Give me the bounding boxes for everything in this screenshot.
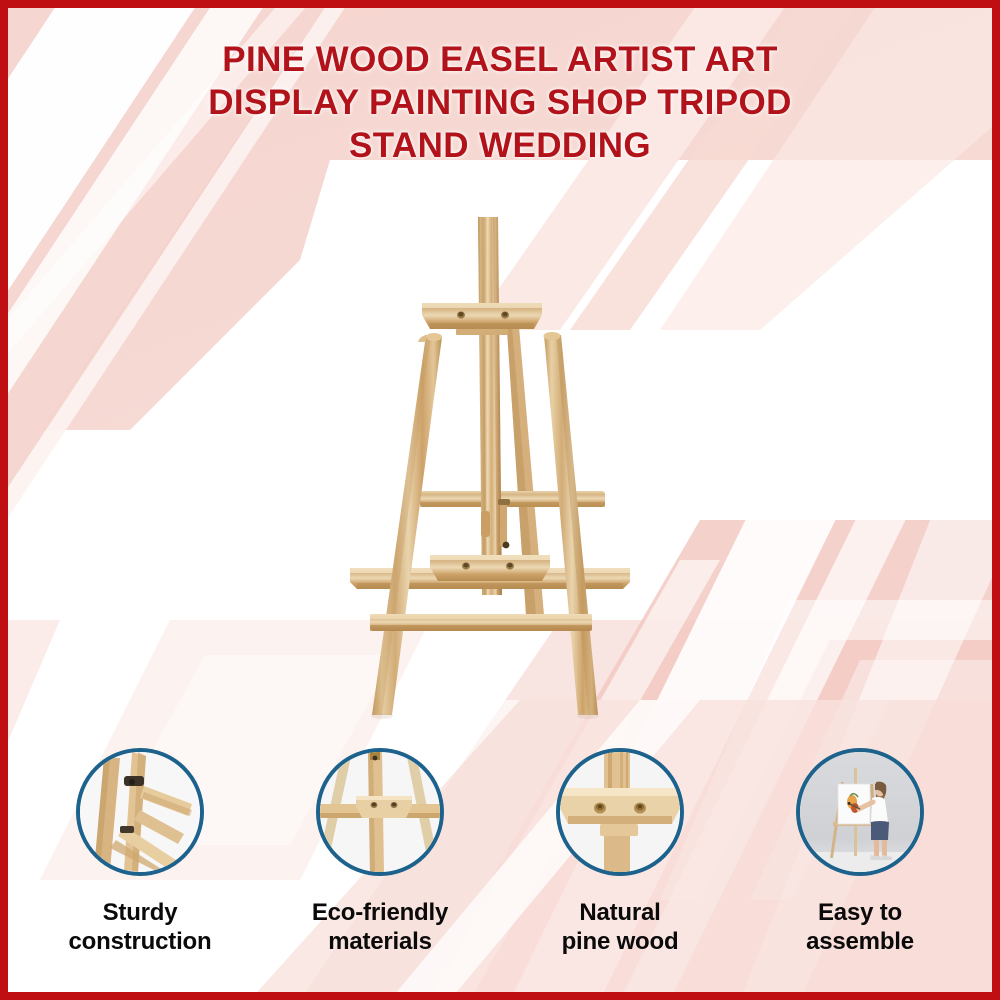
feature-item-eco-friendly-materials: Eco-friendly materials [260, 748, 500, 978]
feature-item-natural-pine-wood: Natural pine wood [500, 748, 740, 978]
feature-label-line1: Easy to [818, 899, 902, 926]
feature-circle-1 [76, 748, 204, 876]
feature-label-line2: construction [69, 928, 212, 955]
hero-product-image [330, 195, 690, 725]
woman-painting-at-easel-icon [800, 752, 920, 872]
feature-item-easy-to-assemble: Easy to assemble [740, 748, 980, 978]
feature-label-3: Natural pine wood [562, 898, 679, 956]
feature-label-4: Easy to assemble [806, 898, 914, 956]
feature-label-2: Eco-friendly materials [312, 898, 448, 956]
feature-label-line1: Natural [579, 899, 660, 926]
feature-label-line2: pine wood [562, 928, 679, 955]
feature-label-line2: materials [328, 928, 432, 955]
feature-label-line1: Sturdy [103, 899, 178, 926]
feature-item-sturdy-construction: Sturdy construction [20, 748, 260, 978]
feature-callout-row: Sturdy construction [20, 748, 980, 978]
pine-wood-grain-screws-icon [560, 752, 680, 872]
easel-shelf-bracket-icon [320, 752, 440, 872]
product-listing-image: PINE WOOD EASEL ARTIST ART DISPLAY PAINT… [0, 0, 1000, 1000]
feature-circle-4 [796, 748, 924, 876]
easel-illustration [330, 195, 690, 725]
feature-circle-2 [316, 748, 444, 876]
easel-bottom-crossbar [370, 614, 592, 631]
feature-label-1: Sturdy construction [69, 898, 212, 956]
page-title: PINE WOOD EASEL ARTIST ART DISPLAY PAINT… [0, 38, 1000, 167]
easel-top-clamp-bracket [422, 303, 542, 335]
easel-joint-closeup-icon [80, 752, 200, 872]
feature-label-line1: Eco-friendly [312, 899, 448, 926]
feature-circle-3 [556, 748, 684, 876]
feature-label-line2: assemble [806, 928, 914, 955]
